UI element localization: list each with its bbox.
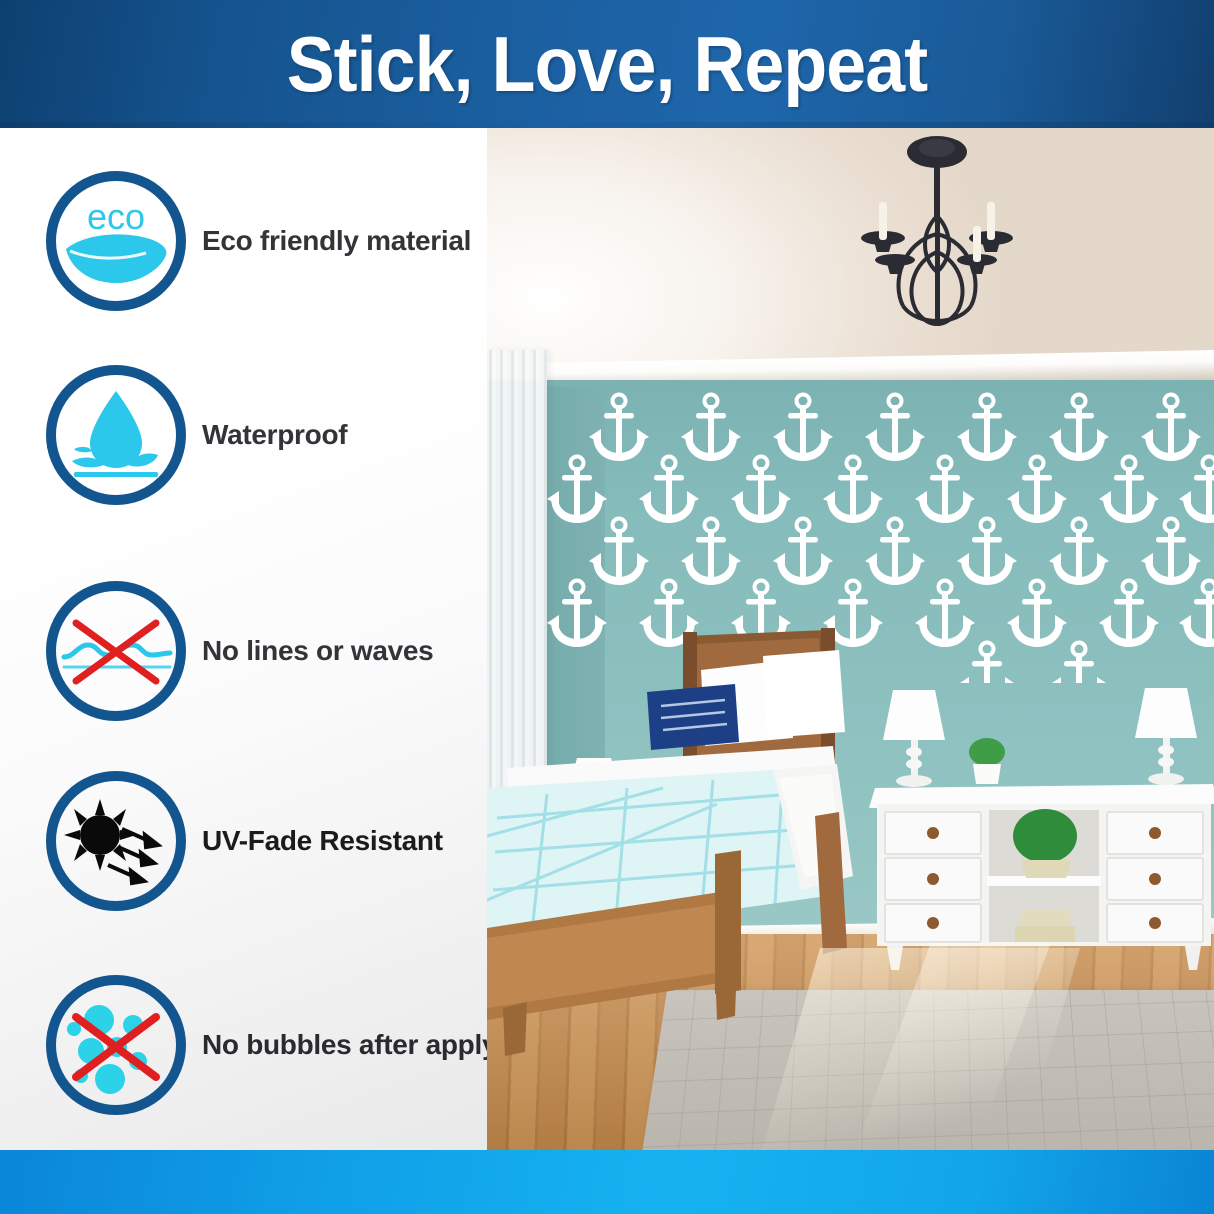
feature-list-panel: eco Eco friendly material Waterproof — [0, 128, 487, 1150]
page-title: Stick, Love, Repeat — [49, 0, 1166, 128]
footer-bar — [0, 1150, 1214, 1214]
eco-leaf-icon: eco — [46, 171, 186, 311]
table-lamp-right — [1135, 688, 1197, 785]
feature-label: No bubbles after apply — [202, 1030, 497, 1061]
feature-item-waterproof: Waterproof — [0, 350, 487, 520]
product-infographic-poster: Stick, Love, Repeat eco Eco friendly mat… — [0, 0, 1214, 1214]
water-drop-icon — [46, 365, 186, 505]
feature-item-no-waves: No lines or waves — [0, 566, 487, 736]
bedroom-scene-photo — [487, 128, 1214, 1150]
no-waves-icon — [46, 581, 186, 721]
uv-sun-rays-icon — [46, 771, 186, 911]
table-lamp-left — [883, 690, 945, 787]
feature-label: Waterproof — [202, 420, 347, 451]
chandelier — [817, 134, 1057, 394]
feature-label: No lines or waves — [202, 636, 433, 667]
no-bubbles-icon — [46, 975, 186, 1115]
svg-text:eco: eco — [87, 196, 145, 237]
bed — [487, 628, 907, 1068]
header-banner: Stick, Love, Repeat — [0, 0, 1214, 128]
potted-plant — [969, 738, 1005, 784]
feature-item-eco: eco Eco friendly material — [0, 156, 487, 326]
feature-item-no-bubbles: No bubbles after apply — [0, 960, 487, 1130]
dresser — [869, 648, 1214, 978]
feature-label: Eco friendly material — [202, 226, 471, 257]
feature-item-uv-fade: UV-Fade Resistant — [0, 756, 487, 926]
feature-label: UV-Fade Resistant — [202, 826, 443, 857]
